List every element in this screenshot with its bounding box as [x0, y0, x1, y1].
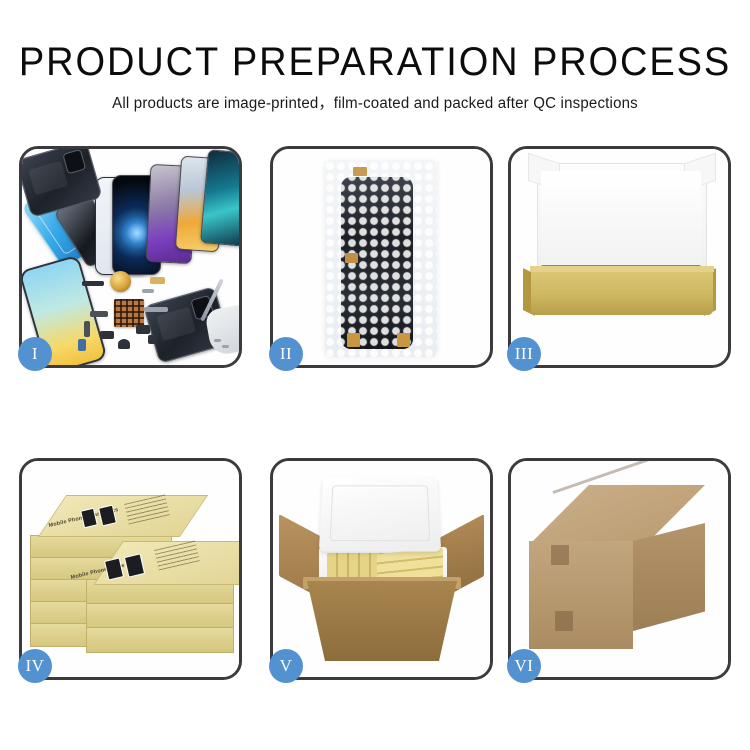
step-panel-3: III [508, 146, 731, 368]
step-panel-2: II [270, 146, 493, 368]
step-6-image [511, 461, 728, 677]
step-badge-4: IV [18, 649, 52, 683]
part-screw-icon [214, 339, 221, 342]
step-badge-2: II [269, 337, 303, 371]
tape-strip-2-icon [345, 253, 358, 263]
phone-teal-icon [200, 149, 239, 247]
kraft-box-tray-icon [531, 267, 713, 315]
part-connector-icon [82, 281, 104, 286]
part-bracket-icon [142, 289, 154, 293]
tape-strip-icon [353, 167, 367, 176]
carton-tab-upper [551, 545, 569, 565]
part-gold-clip-icon [150, 277, 165, 284]
bubble-wrap-bag-icon [325, 161, 437, 357]
page-subtitle: All products are image-printed，film-coat… [11, 93, 739, 115]
foam-case-lid-icon [319, 477, 441, 551]
step-panel-1: I [19, 146, 242, 368]
box-top-rear [38, 495, 208, 537]
carton-tab-lower [555, 611, 573, 631]
carton-side-face [633, 523, 705, 631]
part-chip-icon [148, 335, 157, 344]
part-ribbon-icon [144, 307, 168, 312]
box-stack: Mobile Phone Spare Parts Mobile Phone Sp… [30, 483, 236, 659]
step-badge-6: VI [507, 649, 541, 683]
step-5-image [273, 461, 490, 677]
step-panel-6: VI [508, 458, 731, 680]
bubble-texture [325, 161, 437, 357]
tape-strip-4-icon [397, 333, 410, 347]
process-grid: I II [19, 146, 731, 680]
part-block-icon [100, 331, 114, 339]
step-2-image [273, 149, 490, 365]
part-camera-icon [136, 325, 150, 334]
infographic-page: PRODUCT PREPARATION PROCESS All products… [0, 0, 750, 750]
part-sim-tray-icon [78, 339, 86, 351]
step-3-image [511, 149, 728, 365]
foam-sheet-icon [541, 171, 701, 267]
header: PRODUCT PREPARATION PROCESS All products… [0, 0, 750, 115]
step-badge-3: III [507, 337, 541, 371]
step-badge-1: I [18, 337, 52, 371]
copper-coil-icon [110, 271, 131, 292]
step-4-image: Mobile Phone Spare Parts Mobile Phone Sp… [22, 461, 239, 677]
chip-grid-icon [114, 299, 144, 327]
step-panel-4: Mobile Phone Spare Parts Mobile Phone Sp… [19, 458, 242, 680]
step-panel-5: V [270, 458, 493, 680]
box-layer-front-2 [86, 603, 234, 629]
carton-front-face [529, 541, 633, 649]
tape-strip-3-icon [347, 333, 360, 347]
step-badge-5: V [269, 649, 303, 683]
page-title: PRODUCT PREPARATION PROCESS [19, 38, 732, 86]
part-flex-cable-icon [90, 311, 108, 317]
step-1-image [22, 149, 239, 365]
part-speaker-icon [118, 339, 130, 349]
part-screw-2-icon [222, 345, 229, 348]
box-layer-front-3 [86, 627, 234, 653]
part-strip-icon [84, 321, 90, 337]
carton-body-icon [307, 581, 457, 661]
